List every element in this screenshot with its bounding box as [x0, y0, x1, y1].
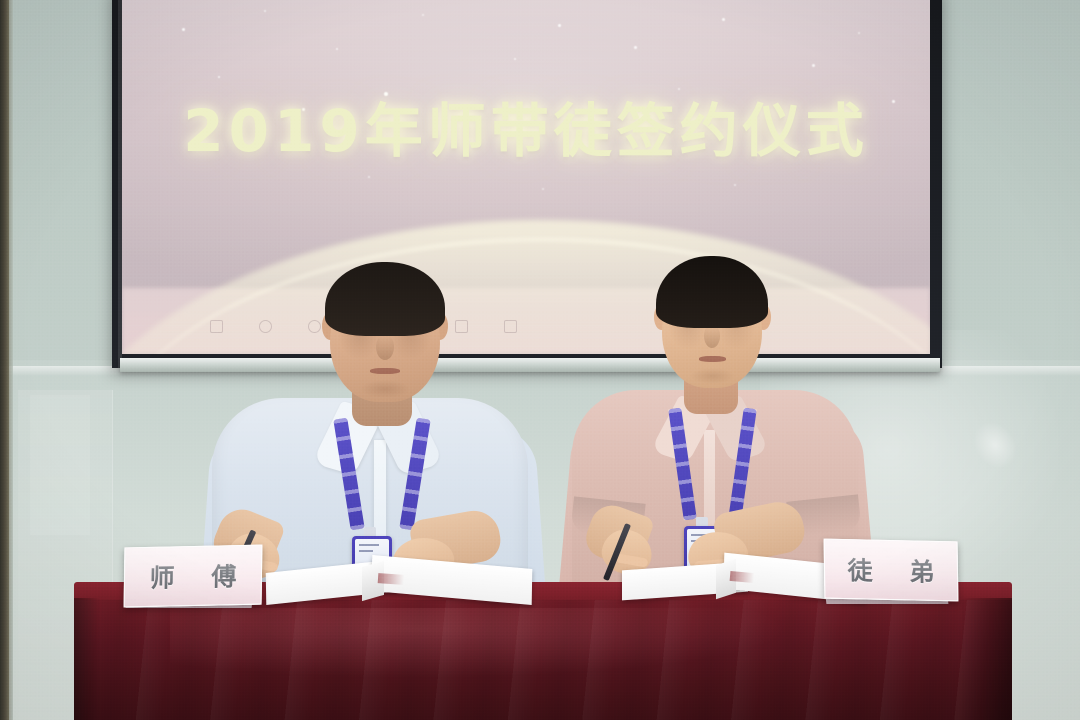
apprentice-nameplate-text: 徒 弟 [833, 551, 948, 589]
table-cloth-sheen [170, 608, 790, 678]
apprentice-mouth [699, 356, 726, 362]
circle-icon [259, 320, 272, 333]
ceremony-photo: 2019年师带徒签约仪式 [0, 0, 1080, 720]
sparkle-icon [368, 176, 370, 178]
mentor-document-spine [378, 573, 405, 585]
sparkle-icon [722, 18, 725, 21]
sparkle-icon [812, 64, 815, 67]
mentor-nameplate: 师 傅 [124, 545, 263, 608]
projector-slide: 2019年师带徒签约仪式 [122, 0, 930, 354]
check-icon [308, 320, 321, 333]
slide-title: 2019年师带徒签约仪式 [122, 84, 930, 168]
sparkle-icon [634, 46, 637, 49]
sparkle-icon [182, 28, 185, 31]
mentor-badge-text-line [359, 550, 373, 552]
sparkle-icon [264, 10, 266, 12]
mentor-mouth [370, 368, 400, 374]
mentor-nameplate-text: 师 傅 [135, 557, 250, 595]
door-frame-edge [0, 0, 9, 720]
sparkle-icon [218, 76, 220, 78]
sparkle-icon [558, 24, 561, 27]
mentor-nose [376, 334, 394, 360]
apprentice-chin-shadow [690, 368, 735, 384]
sparkle-icon [542, 188, 544, 190]
apprentice-nameplate: 徒 弟 [824, 539, 959, 602]
sparkle-icon [514, 58, 516, 60]
sparkle-icon [858, 32, 860, 34]
apprentice-document-spine [730, 571, 755, 583]
square-icon [504, 320, 517, 333]
sparkle-icon [734, 184, 736, 186]
projector-screen-shelf [120, 358, 940, 372]
wall-panel-secondary [30, 395, 90, 535]
sparkle-icon [336, 48, 338, 50]
table-cloth-right-shadow [960, 598, 1012, 720]
table-cloth-left-shadow [74, 598, 100, 720]
square-icon [210, 320, 223, 333]
door-frame-edge-highlight [9, 0, 13, 720]
square-icon [455, 320, 468, 333]
mentor-badge-text-line [359, 544, 379, 546]
sparkle-icon [422, 14, 424, 16]
mentor-chin-shadow [360, 380, 410, 398]
